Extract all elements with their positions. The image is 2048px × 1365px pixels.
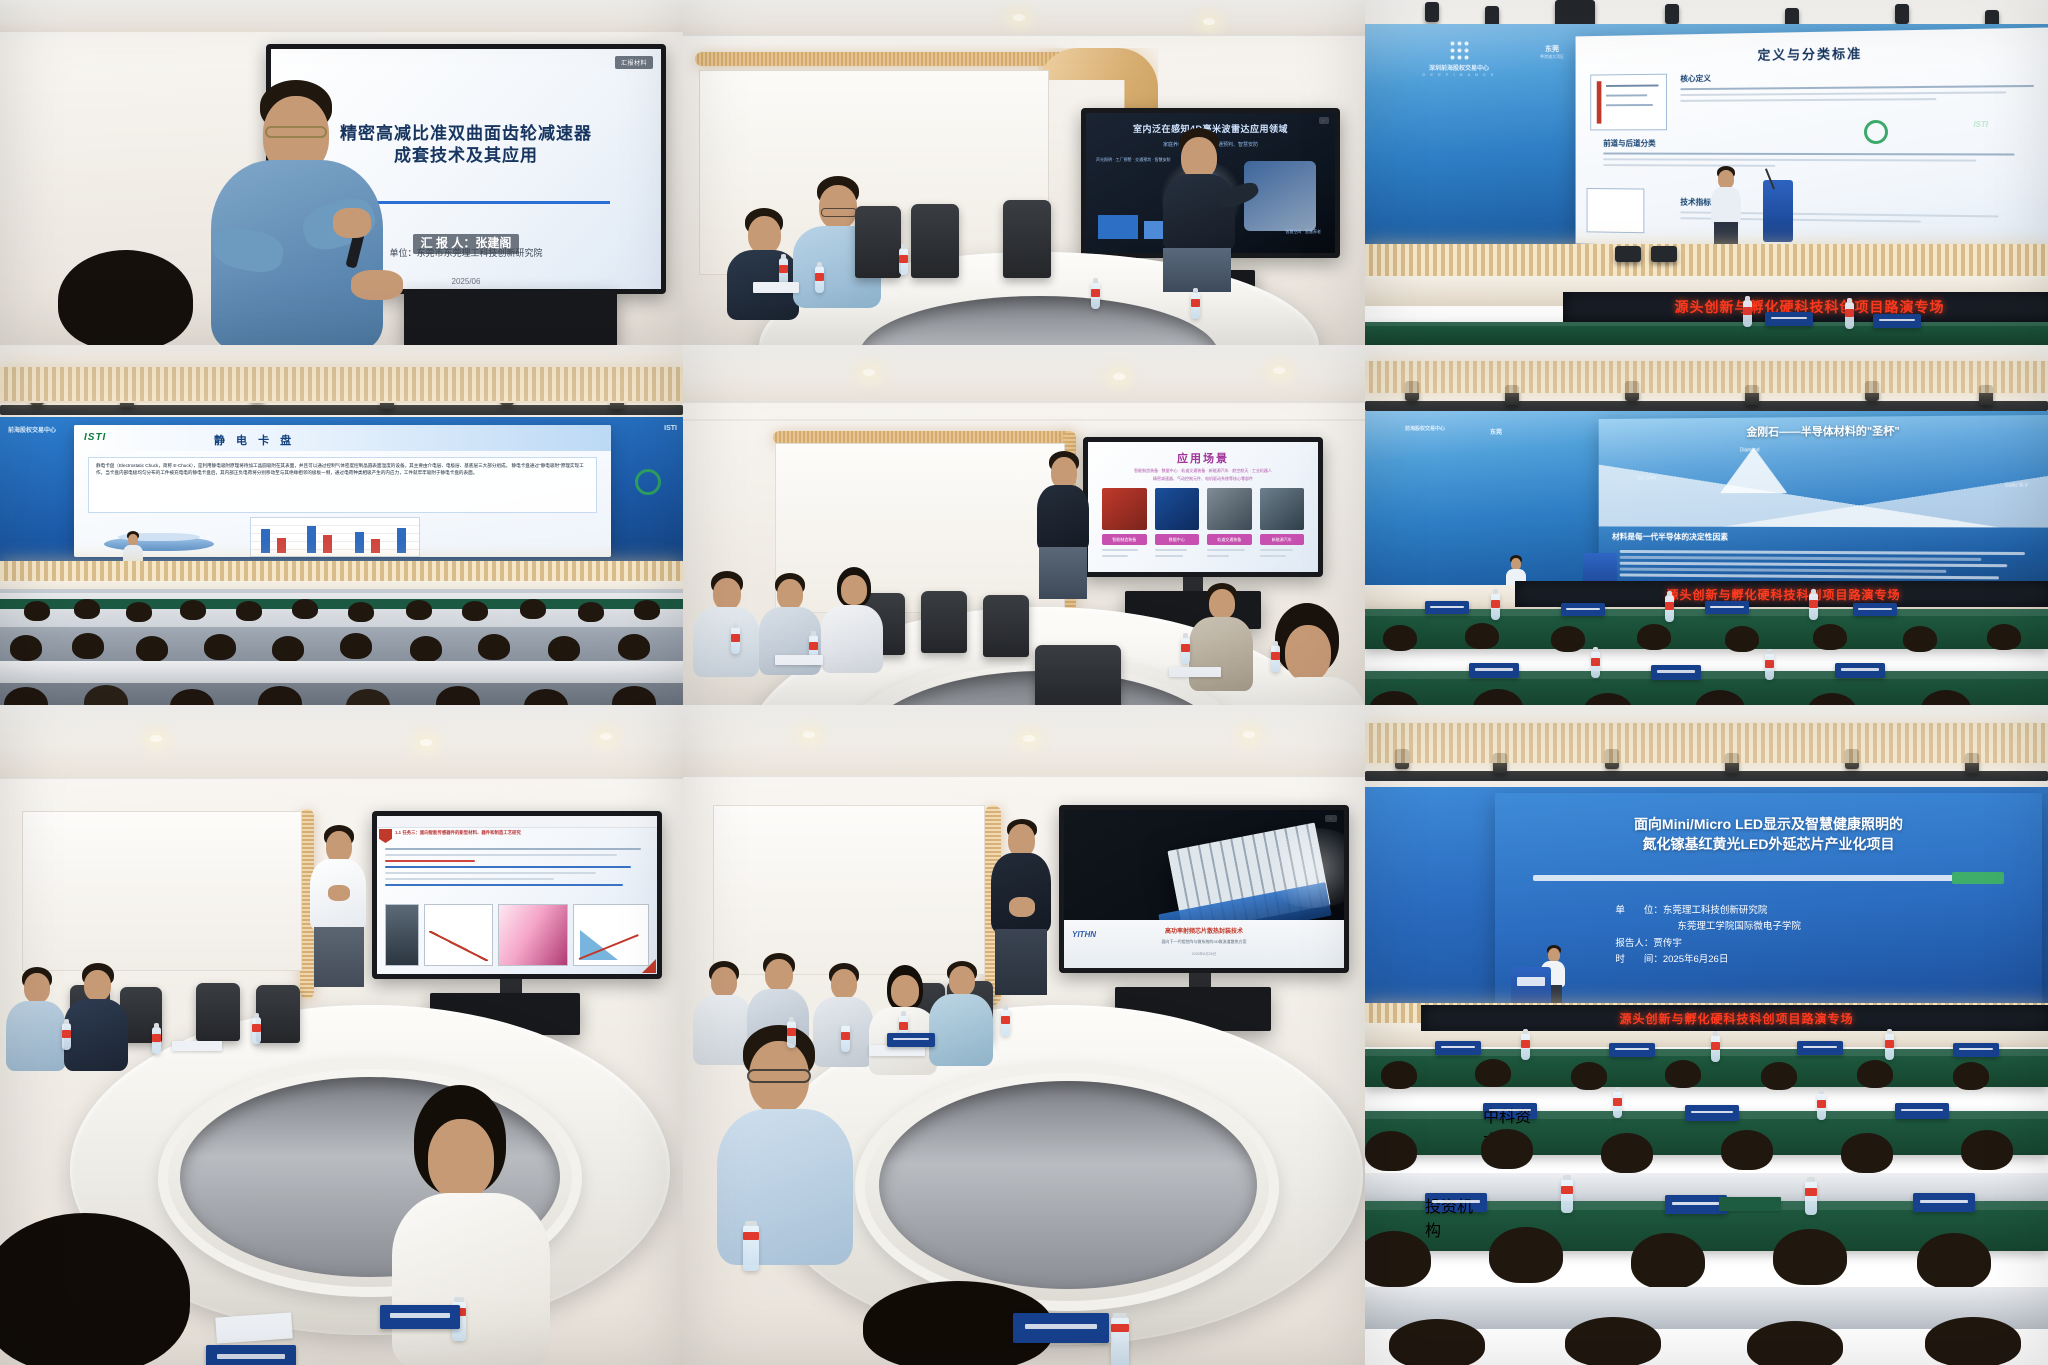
document <box>172 1041 222 1051</box>
nameplate <box>887 1033 935 1047</box>
ceiling-fins <box>1365 723 2048 763</box>
slide-p4: ISTI 静 电 卡 盘 静电卡盘（Electrostatic Chuck，简称… <box>74 425 611 557</box>
nameplate <box>1953 1043 1999 1057</box>
lectern <box>1763 180 1793 242</box>
slide-title: 定义与分类标准 <box>1576 40 2048 66</box>
speaker-hand-right <box>333 208 371 238</box>
panel-top-left: 汇报材料 精密高减比准双曲面齿轮减速器 成套技术及其应用 汇 报 人：张建阁 单… <box>0 0 683 345</box>
glasses-icon <box>265 126 327 138</box>
peak-label-gaas: GaAs Ⅲ-Ⅴ <box>2005 483 2028 489</box>
slide-section-2: 前道与后道分类 <box>1603 138 2048 172</box>
chart-curve <box>424 904 493 966</box>
wood-accent-top <box>695 52 1065 66</box>
speaker-head <box>1181 137 1217 179</box>
display-screen: 1.1 任务三：面向智能传感器件的新型材料、器件和制造工艺研究 <box>377 816 657 974</box>
audience-row-4 <box>1365 1317 2048 1365</box>
foreground-attendee-left <box>0 1213 190 1365</box>
led-banner-text: 源头创新与孵化硬科技科创项目路演专场 <box>1666 586 1900 603</box>
nameplate <box>206 1345 296 1365</box>
speaker-torso <box>1163 174 1235 252</box>
nameplate <box>1705 601 1749 614</box>
peak-label-sic: SiC GaN <box>1637 475 1656 481</box>
audience-row-1 <box>1365 621 2048 671</box>
wall-display: 1.1 任务三：面向智能传感器件的新型材料、器件和制造工艺研究 <box>372 811 662 979</box>
nameplate <box>1561 603 1605 616</box>
nameplate <box>1425 601 1469 614</box>
glasses-icon <box>821 208 857 217</box>
chart-heatmap <box>498 904 567 966</box>
panel-bottom-left: 1.1 任务三：面向智能传感器件的新型材料、器件和制造工艺研究 <box>0 705 683 1365</box>
nameplate <box>1685 1105 1739 1121</box>
sponsor-logo-2: 东莞 <box>1465 427 1527 457</box>
slide-corner-tag: 汇报材料 <box>615 56 653 69</box>
standing-speaker <box>1143 128 1253 288</box>
slide-p8: · YITHN 高功率射频芯片散热封装技术 面向下一代相控阵与微系统的3D微流道… <box>1064 810 1344 968</box>
ceiling <box>0 0 683 32</box>
panel-top-right: 深圳前海股权交易中心 D E E F I N A N C E 东莞 粤港澳大湾区… <box>1365 0 2048 345</box>
attendee-hair <box>58 250 193 345</box>
slide-figure-1 <box>1590 74 1667 131</box>
stage-fins <box>1365 244 2048 280</box>
display-stand-panel <box>404 290 617 345</box>
slide-info-rows: 单 位：东莞理工科技创新研究院 东莞理工学院国际微电子学院 报告人：贾传宇 时 … <box>1615 903 1998 968</box>
nameplate <box>1651 665 1701 680</box>
chair <box>1003 200 1051 278</box>
slide-rule <box>1533 875 2003 881</box>
panel-top-center: · 室内泛在感知4D毫米波雷达应用领域 家庭养老、工厂预警、交通预判、智慧安防 … <box>683 0 1365 345</box>
isti-logo: ISTI <box>1973 120 1988 129</box>
panel-middle-right: 前海股权交易中心 东莞 ISTI 金刚石——半导体材料的"圣杯" Diamond… <box>1365 345 2048 705</box>
green-circle-logo <box>635 469 661 495</box>
slide-topbar <box>377 816 657 828</box>
lighting-truss <box>1365 771 2048 781</box>
nameplate <box>1609 1043 1655 1057</box>
chart-triangle <box>573 904 649 966</box>
nameplate <box>1797 1041 1843 1055</box>
info-row-4: 时 间：2025年6月26日 <box>1615 952 1998 968</box>
ceiling <box>0 705 683 777</box>
nameplate <box>1873 314 1921 328</box>
info-row-3: 报告人：贾传宇 <box>1615 936 1998 952</box>
isti-logo: ISTI <box>84 432 106 443</box>
slide-header-band <box>74 425 611 451</box>
slide-title: 面向Mini/Micro LED显示及智慧健康照明的 氮化镓基红黄光LED外延芯… <box>1528 815 2009 855</box>
chart-sem <box>385 904 419 966</box>
slide-p9: 面向Mini/Micro LED显示及智慧健康照明的 氮化镓基红黄光LED外延芯… <box>1495 793 2042 1005</box>
slide-figure-2 <box>1587 188 1645 233</box>
led-banner-text: 源头创新与孵化硬科技科创项目路演专场 <box>1619 1010 1853 1027</box>
standing-speaker <box>1023 451 1101 599</box>
slide-title: 应用场景 <box>1088 450 1318 466</box>
slide-subline-2: 精密减速器、气动控制元件、电机驱动系统等核心零部件 <box>1088 476 1318 482</box>
mountain-graphic <box>1599 454 2048 528</box>
slide-card-1: 智能制造装备 <box>1102 488 1147 561</box>
head <box>819 185 857 229</box>
ceiling-line <box>683 34 1365 36</box>
downlight <box>1203 18 1215 25</box>
slide-section-1: 核心定义 <box>1680 69 2048 105</box>
slide-card-row: 智能制造装备 数据中心 轨道交通装备 <box>1102 488 1304 561</box>
slide-title: 金刚石——半导体材料的"圣杯" <box>1599 421 2048 440</box>
chair <box>983 595 1029 657</box>
led-wall: 面向Mini/Micro LED显示及智慧健康照明的 氮化镓基红黄光LED外延芯… <box>1365 787 2048 1009</box>
slide-header: 1.1 任务三：面向智能传感器件的新型材料、器件和制造工艺研究 <box>395 830 653 836</box>
wall-projection-area <box>713 805 985 975</box>
seated-attendee-5 <box>929 961 995 1067</box>
document <box>1169 667 1221 677</box>
downlight <box>1013 14 1025 21</box>
display-screen: · YITHN 高功率射频芯片散热封装技术 面向下一代相控阵与微系统的3D微流道… <box>1064 810 1344 968</box>
led-banner: 源头创新与孵化硬科技科创项目路演专场 <box>1421 1005 2048 1031</box>
audience-row-2 <box>0 631 683 677</box>
wall-corner-logo: ISTI <box>664 425 677 432</box>
chair <box>256 985 300 1043</box>
nameplate <box>1013 1313 1109 1343</box>
nameplate <box>1765 312 1813 326</box>
nameplate <box>1895 1103 1949 1119</box>
slide-card-4: 新能源汽车 <box>1260 488 1305 561</box>
sponsor-logo-1: 前海股权交易中心 <box>1395 425 1455 459</box>
foreground-attendee <box>58 250 193 345</box>
panel-middle-center: 应用场景 智能制造装备 · 数据中心 · 轨道交通装备 · 新能源汽车 · 航空… <box>683 345 1365 705</box>
slide-subtitle: 面向下一代相控阵与微系统的3D微流道散热方案 <box>1064 939 1344 945</box>
slide-marker-icon <box>379 829 392 843</box>
wall-display: · YITHN 高功率射频芯片散热封装技术 面向下一代相控阵与微系统的3D微流道… <box>1059 805 1349 973</box>
green-circle-logo <box>1864 120 1888 144</box>
head <box>748 216 781 254</box>
slide-p5: 应用场景 智能制造装备 · 数据中心 · 轨道交通装备 · 新能源汽车 · 航空… <box>1088 442 1318 572</box>
slide-subtitle: 材料是每一代半导体的决定性因素 <box>1612 531 1728 542</box>
slide-subline: 智能制造装备 · 数据中心 · 轨道交通装备 · 新能源汽车 · 航空航天 · … <box>1088 468 1318 474</box>
seated-attendee-3 <box>817 567 887 677</box>
nameplate <box>1853 603 1897 616</box>
slide-card-3: 轨道交通装备 <box>1207 488 1252 561</box>
speaker <box>205 80 405 345</box>
slide-bar-chart <box>250 517 420 557</box>
seated-attendee-1 <box>6 967 68 1071</box>
chair <box>196 983 240 1041</box>
nameplate <box>1913 1193 1975 1212</box>
document <box>775 655 823 665</box>
nameplate <box>1435 1041 1481 1055</box>
panel-middle-left: ISTI 静 电 卡 盘 静电卡盘（Electrostatic Chuck，简称… <box>0 345 683 705</box>
sponsor-logo-1: 深圳前海股权交易中心 D E E F I N A N C E <box>1411 40 1507 86</box>
glasses-icon <box>747 1069 811 1083</box>
peak-label-diamond: Diamond <box>1740 447 1760 453</box>
panel-bottom-center: · YITHN 高功率射频芯片散热封装技术 面向下一代相控阵与微系统的3D微流道… <box>683 705 1365 1365</box>
nameplate <box>1835 663 1885 678</box>
panel-bottom-right: 面向Mini/Micro LED显示及智慧健康照明的 氮化镓基红黄光LED外延芯… <box>1365 705 2048 1365</box>
speaker-hand-left <box>351 270 403 300</box>
chair <box>855 206 901 278</box>
seated-attendee-1 <box>691 571 761 679</box>
led-wall: 前海股权交易中心 东莞 ISTI 金刚石——半导体材料的"圣杯" Diamond… <box>1365 411 2048 591</box>
lighting-truss <box>0 405 683 415</box>
slide-bullets <box>1620 547 2043 583</box>
slide-p7: 1.1 任务三：面向智能传感器件的新型材料、器件和制造工艺研究 <box>377 816 657 974</box>
slide-legend: 智慧空间 · 智慧养老 <box>1285 229 1321 235</box>
ceiling-fins <box>1365 361 2048 393</box>
nameplate <box>1665 1195 1727 1214</box>
slide-bullets <box>385 844 649 890</box>
nameplate <box>1469 663 1519 678</box>
led-wall: ISTI 静 电 卡 盘 静电卡盘（Electrostatic Chuck，简称… <box>0 417 683 567</box>
nameplate: 投资机构 <box>1425 1193 1487 1212</box>
chair-center <box>1035 645 1121 705</box>
nameplate: 中科资本 <box>1483 1103 1537 1119</box>
document <box>753 282 799 293</box>
slide-card-2: 数据中心 <box>1155 488 1200 561</box>
info-row-2: 东莞理工学院国际微电子学院 <box>1615 919 1998 935</box>
front-green-table <box>1365 322 2048 345</box>
ceiling-fins <box>0 367 683 401</box>
nameplate <box>380 1305 460 1329</box>
info-row-1: 单 位：东莞理工科技创新研究院 <box>1615 903 1998 919</box>
slide-p3: 定义与分类标准 核心定义 前道与后道分类 技术指标分类 <box>1576 27 2048 253</box>
slide-date-line: 2025年6月26日 <box>1064 952 1344 957</box>
slide-p6: 金刚石——半导体材料的"圣杯" Diamond SiC GaN GaAs Ⅲ-Ⅴ… <box>1599 415 2048 591</box>
speaker-legs <box>1163 248 1231 292</box>
slide-footer-band: YITHN 高功率射频芯片散热封装技术 面向下一代相控阵与微系统的3D微流道散热… <box>1064 920 1344 968</box>
audience-row-3 <box>1365 1225 2048 1325</box>
foreground-attendee-left <box>717 1025 857 1265</box>
slide-title: 高功率射频芯片散热封装技术 <box>1064 926 1344 935</box>
wall-logo-left: 前海股权交易中心 <box>8 425 56 434</box>
lectern-plate <box>1517 977 1545 986</box>
wall-projection-area <box>22 811 302 971</box>
audience-row-2 <box>1365 1127 2048 1203</box>
chair <box>921 591 967 653</box>
seated-attendee-4 <box>1187 583 1257 695</box>
document-foreground <box>215 1312 293 1343</box>
table-rim <box>855 1063 1279 1311</box>
audience-row-3 <box>0 683 683 705</box>
document <box>1719 1197 1781 1211</box>
slide-corner-tag: · <box>1325 815 1337 822</box>
lighting-truss <box>1365 401 2048 411</box>
slide-body-text: 静电卡盘（Electrostatic Chuck，简称 E-Chuck），是利用… <box>88 457 597 513</box>
chair <box>911 204 959 278</box>
standing-speaker <box>296 825 380 987</box>
audience-row-1 <box>0 595 683 631</box>
photo-collage-grid: 汇报材料 精密高减比准双曲面齿轮减速器 成套技术及其应用 汇 报 人：张建阁 单… <box>0 0 2048 1365</box>
peak-diamond <box>1720 447 1787 493</box>
slide-chart-row <box>385 904 649 966</box>
slide-bar-1 <box>1098 215 1138 239</box>
audience-row-2 <box>1365 687 2048 705</box>
slide-rule-accent <box>1952 872 2004 884</box>
wall-display: 应用场景 智能制造装备 · 数据中心 · 轨道交通装备 · 新能源汽车 · 航空… <box>1083 437 1323 577</box>
display-screen: 应用场景 智能制造装备 · 数据中心 · 轨道交通装备 · 新能源汽车 · 航空… <box>1088 442 1318 572</box>
seated-attendee-2 <box>64 963 130 1071</box>
slide-title: 静 电 卡 盘 <box>214 432 295 448</box>
ceiling <box>683 345 1365 401</box>
